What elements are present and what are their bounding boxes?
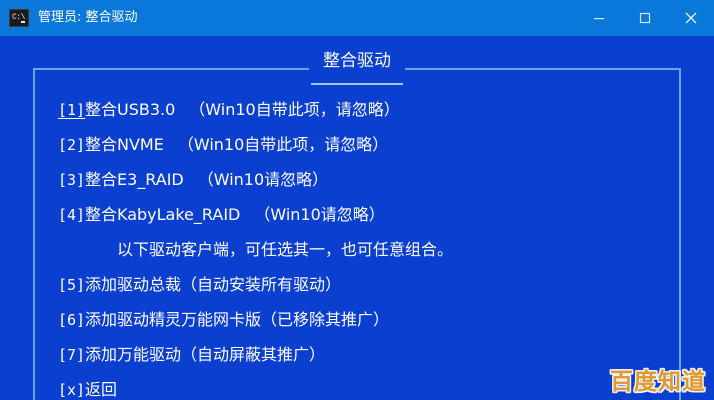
menu-item-label: 整合E3_RAID（Win10请忽略） [77, 166, 328, 190]
menu-note: 以下驱动客户端，可任选其一，也可任意组合。 [33, 236, 681, 271]
menu-item-7[interactable]: [7] 添加万能驱动（自动屏蔽其推广） [33, 341, 681, 376]
menu-list: [1] 整合USB3.0（Win10自带此项，请忽略） [2] 整合NVME（W… [33, 96, 681, 400]
cmd-console-icon[interactable]: C:\ [9, 9, 29, 27]
menu-item-label: 返回 [77, 376, 117, 400]
menu-item-label: 添加驱动总裁（自动安装所有驱动） [77, 271, 341, 295]
window-title: 管理员: 整合驱动 [38, 0, 138, 36]
menu-item-key: [6] [33, 311, 77, 329]
menu-item-key: [4] [33, 206, 77, 224]
menu-item-label: 添加万能驱动（自动屏蔽其推广） [77, 341, 325, 365]
minimize-button[interactable] [576, 0, 622, 36]
menu-note-label: 以下驱动客户端，可任选其一，也可任意组合。 [77, 236, 453, 260]
cmd-window: C:\ 管理员: 整合驱动 [0, 0, 714, 400]
menu-item-key: [3] [33, 171, 77, 189]
menu-item-key: [x] [33, 381, 77, 399]
menu-item-key: [1] [33, 101, 77, 119]
watermark: 百度知道 [610, 362, 706, 396]
menu-item-label: 添加驱动精灵万能网卡版（已移除其推广） [77, 306, 389, 330]
close-button[interactable] [668, 0, 714, 36]
heading-underline-rule [311, 83, 403, 85]
titlebar-left-group: C:\ 管理员: 整合驱动 [0, 0, 138, 36]
close-icon [684, 11, 698, 25]
maximize-button[interactable] [622, 0, 668, 36]
maximize-icon [639, 12, 651, 24]
heading-underline [0, 72, 714, 90]
menu-item-6[interactable]: [6] 添加驱动精灵万能网卡版（已移除其推广） [33, 306, 681, 341]
minimize-icon [593, 12, 605, 24]
menu-item-1[interactable]: [1] 整合USB3.0（Win10自带此项，请忽略） [33, 96, 681, 131]
menu-item-3[interactable]: [3] 整合E3_RAID（Win10请忽略） [33, 166, 681, 201]
menu-item-x[interactable]: [x] 返回 [33, 376, 681, 400]
menu-item-label: 整合USB3.0（Win10自带此项，请忽略） [77, 96, 400, 120]
menu-item-2[interactable]: [2] 整合NVME（Win10自带此项，请忽略） [33, 131, 681, 166]
menu-item-key: [2] [33, 136, 77, 154]
menu-item-5[interactable]: [5] 添加驱动总裁（自动安装所有驱动） [33, 271, 681, 306]
menu-item-label: 整合NVME（Win10自带此项，请忽略） [77, 131, 388, 155]
menu-item-4[interactable]: [4] 整合KabyLake_RAID（Win10请忽略） [33, 201, 681, 236]
console-surface[interactable]: 整合驱动 [1] 整合USB3.0（Win10自带此项，请忽略） [2] 整合N… [0, 36, 714, 400]
menu-item-key: [7] [33, 346, 77, 364]
window-titlebar[interactable]: C:\ 管理员: 整合驱动 [0, 0, 714, 36]
menu-item-label: 整合KabyLake_RAID（Win10请忽略） [77, 201, 385, 225]
cmd-console-icon-cursor [21, 21, 25, 23]
window-controls [576, 0, 714, 36]
menu-item-key: [5] [33, 276, 77, 294]
